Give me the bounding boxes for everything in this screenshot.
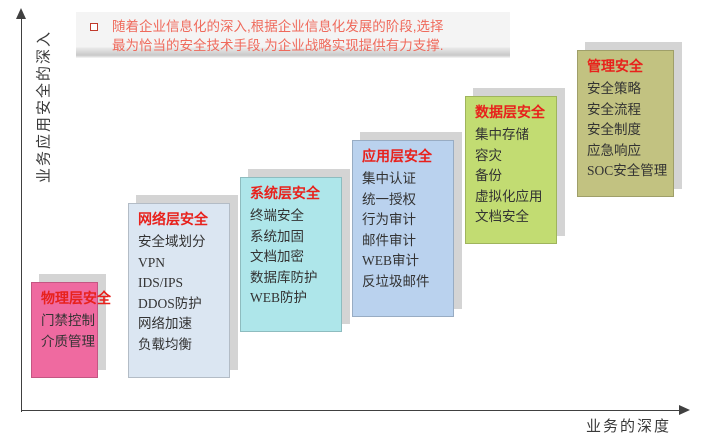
- stair-step-title: 应用层安全: [362, 148, 445, 168]
- stair-step-item: 邮件审计: [362, 231, 445, 252]
- callout-line-1: 随着企业信息化的深入,根据企业信息化发展的阶段,选择: [112, 17, 444, 36]
- stair-step-card[interactable]: 管理安全安全策略安全流程安全制度应急响应SOC安全管理: [577, 50, 674, 197]
- stair-step-item: 网络加速: [138, 314, 221, 335]
- stair-step-item: DDOS防护: [138, 294, 221, 315]
- stair-step-item: 集中存储: [475, 125, 548, 146]
- stair-step-item: WEB审计: [362, 251, 445, 272]
- x-axis-label: 业务的深度: [586, 415, 671, 436]
- callout-line-2: 最为恰当的安全技术手段,为企业战略实现提供有力支撑.: [112, 36, 444, 55]
- stair-step-item: 负载均衡: [138, 335, 221, 356]
- stair-step-item: 数据库防护: [250, 268, 333, 289]
- stair-step-item: 系统加固: [250, 227, 333, 248]
- stair-step-item: 文档安全: [475, 207, 548, 228]
- stair-step-item: 容灾: [475, 146, 548, 167]
- square-bullet-icon: [90, 23, 98, 31]
- x-axis-line: [21, 410, 684, 411]
- stair-step-item: 门禁控制: [41, 311, 89, 332]
- stair-step-item: 行为审计: [362, 210, 445, 231]
- stair-step-item: 安全域划分: [138, 232, 221, 253]
- stair-step-title: 数据层安全: [475, 104, 548, 124]
- stair-step-item: 终端安全: [250, 206, 333, 227]
- stair-step-card[interactable]: 应用层安全集中认证统一授权行为审计邮件审计WEB审计反垃圾邮件: [352, 140, 454, 317]
- x-axis-arrow-icon: [679, 405, 690, 415]
- stair-step-item: IDS/IPS: [138, 273, 221, 294]
- stair-step-card[interactable]: 系统层安全终端安全系统加固文档加密数据库防护WEB防护: [240, 177, 342, 332]
- stair-step-item: 安全流程: [587, 100, 665, 121]
- stair-step-item: 集中认证: [362, 169, 445, 190]
- stair-step-item: 备份: [475, 166, 548, 187]
- callout-box: 随着企业信息化的深入,根据企业信息化发展的阶段,选择 最为恰当的安全技术手段,为…: [76, 12, 510, 58]
- callout-text: 随着企业信息化的深入,根据企业信息化发展的阶段,选择 最为恰当的安全技术手段,为…: [112, 17, 444, 55]
- stair-step-item: WEB防护: [250, 288, 333, 309]
- stair-step-item: 统一授权: [362, 190, 445, 211]
- stair-step-title: 物理层安全: [41, 290, 89, 310]
- stair-step-item: 应急响应: [587, 141, 665, 162]
- stair-step-card[interactable]: 数据层安全集中存储容灾备份虚拟化应用文档安全: [465, 96, 557, 244]
- stair-step-title: 管理安全: [587, 58, 665, 78]
- stair-step-item: 安全策略: [587, 79, 665, 100]
- y-axis-line: [21, 18, 22, 412]
- y-axis-arrow-icon: [16, 8, 26, 19]
- stair-step-item: 文档加密: [250, 247, 333, 268]
- stair-step-item: VPN: [138, 253, 221, 274]
- y-axis-label: 业务应用安全的深入: [33, 12, 54, 202]
- stair-step-card[interactable]: 网络层安全安全域划分VPNIDS/IPSDDOS防护网络加速负载均衡: [128, 203, 230, 378]
- stair-step-title: 网络层安全: [138, 211, 221, 231]
- stair-step-item: 虚拟化应用: [475, 187, 548, 208]
- stair-step-item: 反垃圾邮件: [362, 272, 445, 293]
- diagram-canvas: 业务应用安全的深入 业务的深度 随着企业信息化的深入,根据企业信息化发展的阶段,…: [0, 0, 708, 443]
- stair-step-card[interactable]: 物理层安全门禁控制介质管理: [31, 282, 98, 378]
- stair-step-title: 系统层安全: [250, 185, 333, 205]
- stair-step-item: SOC安全管理: [587, 161, 665, 182]
- stair-step-item: 介质管理: [41, 332, 89, 353]
- stair-step-item: 安全制度: [587, 120, 665, 141]
